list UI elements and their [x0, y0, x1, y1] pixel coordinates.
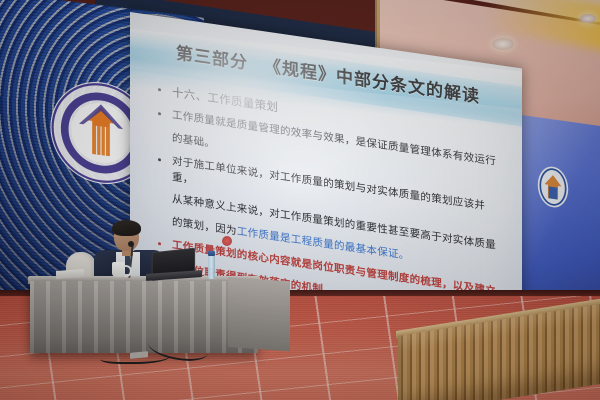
water-bottle [208, 255, 215, 279]
table-cloth [30, 281, 258, 353]
table-cloth-side [228, 277, 290, 351]
red-sign-marker [222, 236, 232, 246]
slide-bullet-lead: 的策划，因为 [172, 216, 237, 237]
water-bottle-cap [208, 251, 215, 256]
microphone-icon [128, 241, 134, 247]
presentation-photo-scene: 第三部分《规程》中部分条文的解读 十六、工作质量策划 工作质量就是质量管理的效率… [0, 0, 600, 400]
downlight-icon [492, 38, 514, 50]
hair [112, 220, 141, 236]
table-cloth-folds [30, 281, 258, 353]
downlight-icon [580, 14, 596, 23]
backdrop-emblem-icon [536, 163, 570, 212]
